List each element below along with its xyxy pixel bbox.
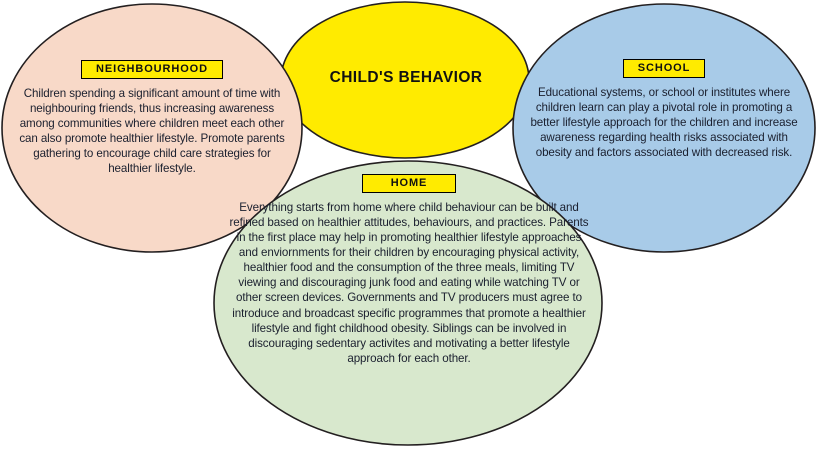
home-node: HOME Everything starts from home where c… xyxy=(228,172,590,366)
neighbourhood-node: NEIGHBOURHOOD Children spending a signif… xyxy=(18,58,286,176)
neighbourhood-badge: NEIGHBOURHOOD xyxy=(81,60,223,79)
school-body-text: Educational systems, or school or instit… xyxy=(522,85,806,160)
home-badge: HOME xyxy=(362,174,457,193)
home-badge-wrap: HOME xyxy=(228,172,590,193)
school-badge: SCHOOL xyxy=(623,59,705,78)
school-node: SCHOOL Educational systems, or school or… xyxy=(522,57,806,160)
neighbourhood-badge-wrap: NEIGHBOURHOOD xyxy=(18,58,286,79)
behavior-diagram: NEIGHBOURHOOD Children spending a signif… xyxy=(0,0,818,449)
home-body-text: Everything starts from home where child … xyxy=(228,200,590,366)
center-title: CHILD'S BEHAVIOR xyxy=(300,68,512,88)
neighbourhood-body-text: Children spending a significant amount o… xyxy=(18,86,286,176)
school-badge-wrap: SCHOOL xyxy=(522,57,806,78)
